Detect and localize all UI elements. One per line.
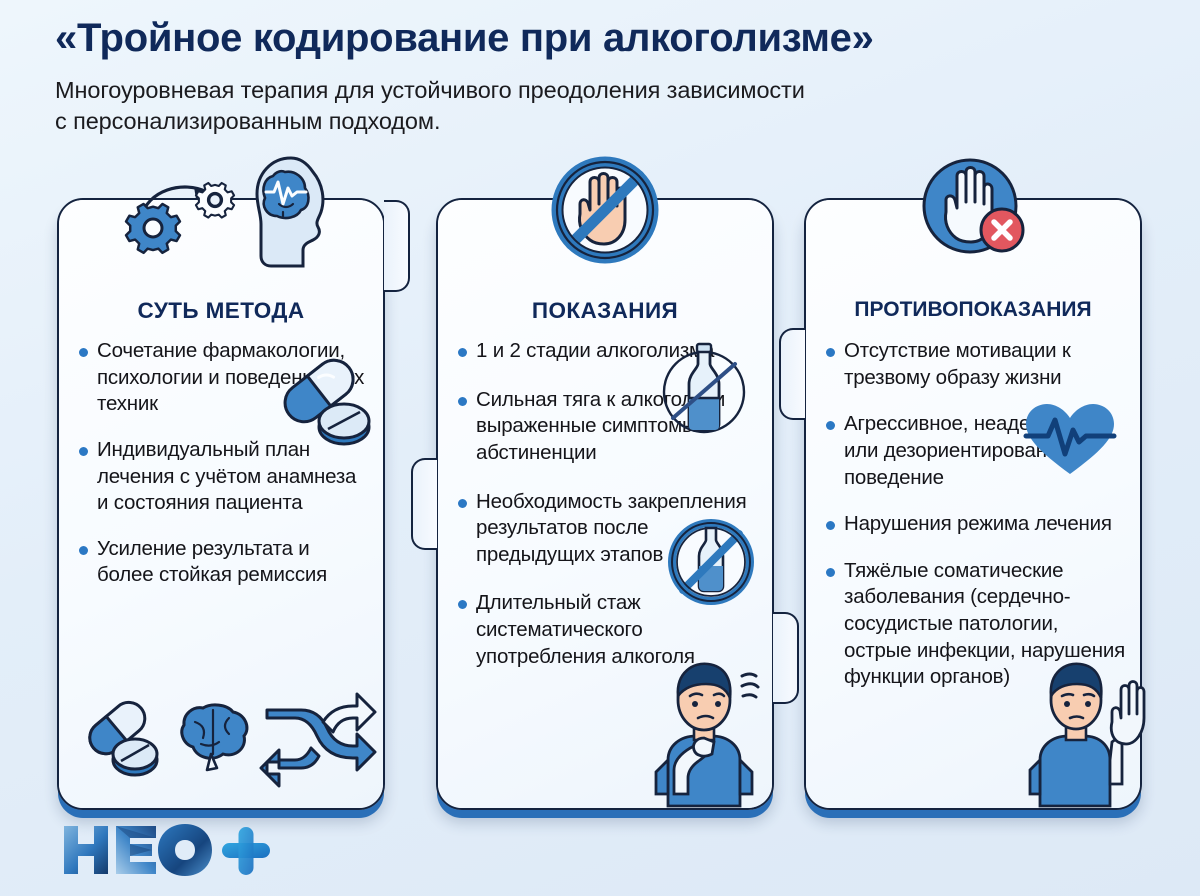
list-item: Тяжёлые соматические заболевания (сердеч… xyxy=(824,558,1126,691)
no-hand-stop-icon xyxy=(530,154,680,266)
list-item: Необходимость закрепления результатов по… xyxy=(456,489,758,569)
list-item: Отсутствие мотивации к трезвому образу ж… xyxy=(824,338,1126,391)
card-connector-right xyxy=(773,612,799,704)
bullet-list: Отсутствие мотивации к трезвому образу ж… xyxy=(824,338,1126,711)
hand-stop-with-red-cross-icon xyxy=(898,154,1048,266)
list-item: Сочетание фармакологии, психологии и пов… xyxy=(77,338,369,418)
card-contraindications: ПРОТИВОПОКАЗАНИЯ Отсутствие мотивации к … xyxy=(804,198,1142,810)
list-item: Индивидуальный план лечения с учётом ана… xyxy=(77,437,369,517)
list-item: Сильная тяга к алкоголю и выраженные сим… xyxy=(456,387,758,467)
capsule-brain-shuffle-icons xyxy=(77,686,367,790)
card-inner: СУТЬ МЕТОДА Сочетание фармакологии, псих… xyxy=(59,200,383,808)
card-method-essence: СУТЬ МЕТОДА Сочетание фармакологии, псих… xyxy=(57,198,385,810)
card-title: СУТЬ МЕТОДА xyxy=(59,298,383,324)
cards-container: СУТЬ МЕТОДА Сочетание фармакологии, псих… xyxy=(0,0,1200,896)
card-indications: ПОКАЗАНИЯ 1 и 2 стадии алкоголизма Сильн… xyxy=(436,198,774,810)
card-connector-left xyxy=(411,458,437,550)
card-title: ПРОТИВОПОКАЗАНИЯ xyxy=(806,298,1140,322)
card-inner: ПОКАЗАНИЯ 1 и 2 стадии алкоголизма Сильн… xyxy=(438,200,772,808)
card-inner: ПРОТИВОПОКАЗАНИЯ Отсутствие мотивации к … xyxy=(806,200,1140,808)
list-item: Длительный стаж систематического употреб… xyxy=(456,590,758,670)
card-connector-right xyxy=(384,200,410,292)
list-item: Агрессивное, неадекватное или дезориенти… xyxy=(824,411,1126,491)
bullet-list: Сочетание фармакологии, психологии и пов… xyxy=(77,338,369,608)
card-connector-left xyxy=(779,328,805,420)
list-item: Нарушения режима лечения xyxy=(824,511,1126,538)
infographic-page: «Тройное кодирование при алкоголизме» Мн… xyxy=(0,0,1200,896)
gears-and-brain-head-icon xyxy=(107,154,347,266)
bullet-list: 1 и 2 стадии алкоголизма Сильная тяга к … xyxy=(456,338,758,692)
card-title: ПОКАЗАНИЯ xyxy=(438,298,772,324)
list-item: 1 и 2 стадии алкоголизма xyxy=(456,338,758,365)
neo-plus-logo[interactable]: НЕО+ xyxy=(62,822,272,878)
list-item: Усиление результата и более стойкая реми… xyxy=(77,536,369,589)
